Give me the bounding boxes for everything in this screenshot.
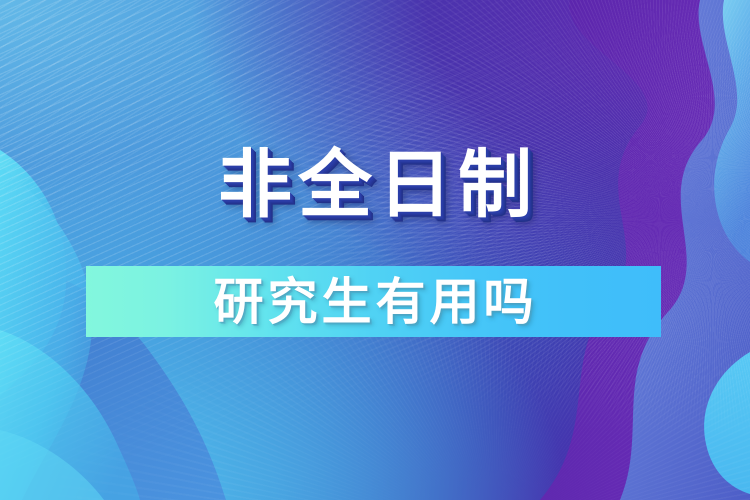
fan-line-texture-bottom xyxy=(0,0,750,500)
promo-banner: 非全日制 研究生有用吗 xyxy=(0,0,750,500)
subtitle-band xyxy=(86,266,661,337)
